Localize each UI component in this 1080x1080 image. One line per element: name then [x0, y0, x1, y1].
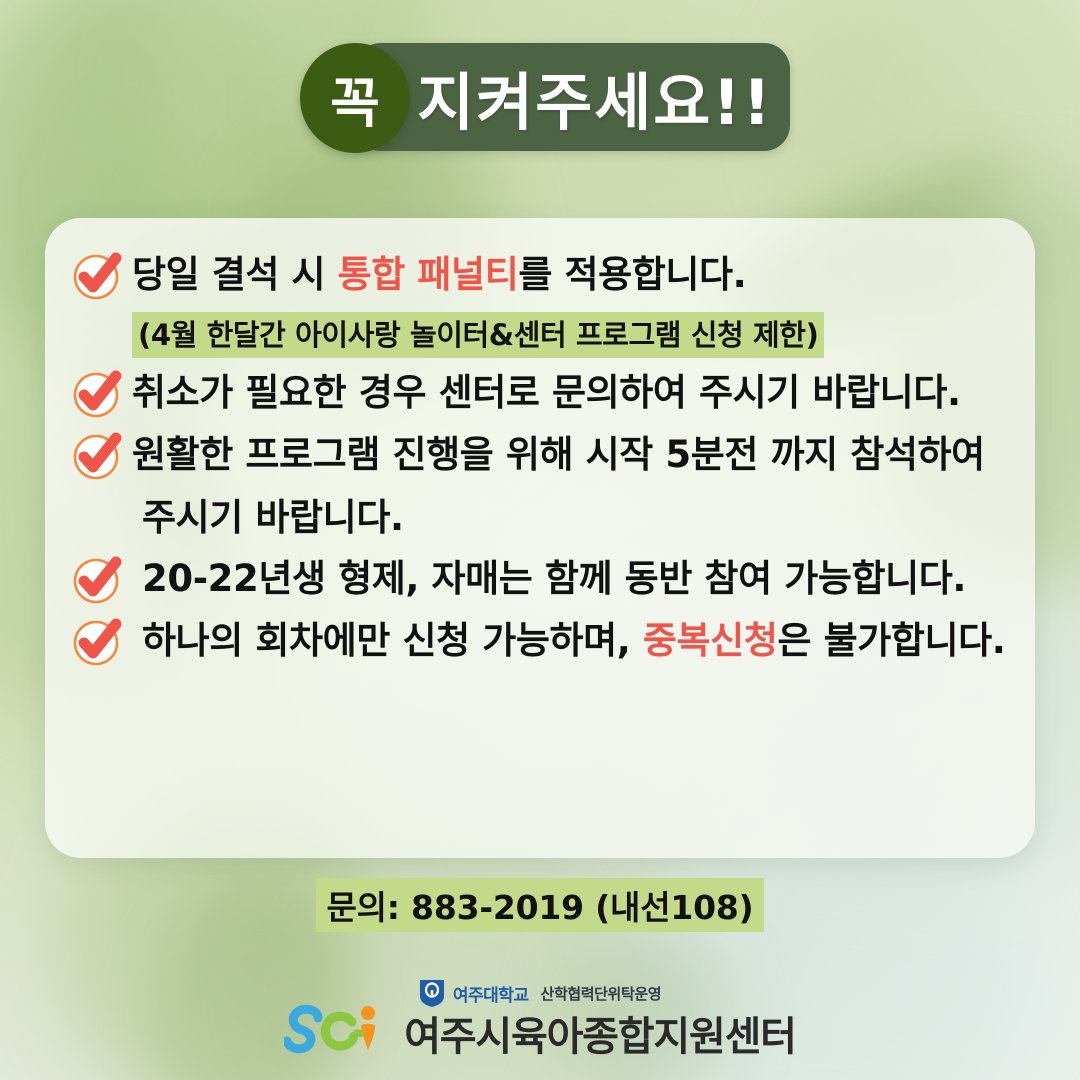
check-circle-icon — [70, 427, 126, 483]
check-circle-icon — [70, 551, 126, 607]
rule-item: 당일 결석 시 통합 패널티를 적용합니다. — [70, 245, 1030, 307]
sc-logo-icon — [284, 1004, 392, 1062]
rule-segment-highlight: 중복신청 — [643, 619, 778, 662]
rule-segment: 은 불가합니다. — [777, 619, 1005, 662]
rule-text: 취소가 필요한 경우 센터로 문의하여 주시기 바랍니다. — [132, 363, 1030, 423]
rules-list: 당일 결석 시 통합 패널티를 적용합니다. (4월 한달간 아이사랑 놀이터&… — [70, 245, 1030, 673]
header-title: 지켜주세요!! — [430, 43, 760, 151]
rule-segment: 당일 결석 시 — [132, 253, 338, 296]
rule-segment: 하나의 회차에만 신청 가능하며, — [142, 619, 643, 662]
header-banner: 지켜주세요!! 꼭 — [300, 43, 790, 151]
rule-item: 취소가 필요한 경우 센터로 문의하여 주시기 바랍니다. — [70, 363, 1030, 425]
check-slot — [70, 425, 132, 487]
check-circle-icon — [70, 247, 126, 303]
check-slot — [70, 245, 132, 307]
check-circle-icon — [70, 365, 126, 421]
subnote-row: (4월 한달간 아이사랑 놀이터&센터 프로그램 신청 제한) — [70, 307, 1030, 363]
rule-continuation-row: 주시기 바랍니다. — [70, 487, 1030, 549]
university-name: 여주대학교 — [453, 981, 529, 1006]
header-badge: 꼭 — [300, 43, 410, 153]
center-brand-row: 여주시육아종합지원센터 — [0, 1004, 1080, 1062]
center-name: 여주시육아종합지원센터 — [404, 1004, 796, 1062]
contact-phone: 문의: 883-2019 (내선108) — [316, 878, 763, 932]
rule-continuation-text: 주시기 바랍니다. — [132, 488, 404, 548]
rule-item: 20-22년생 형제, 자매는 함께 동반 참여 가능합니다. — [70, 549, 1030, 611]
rule-text: 원활한 프로그램 진행을 위해 시작 5분전 까지 참석하여 — [132, 425, 1030, 485]
rule-item: 하나의 회차에만 신청 가능하며, 중복신청은 불가합니다. — [70, 611, 1030, 673]
rule-text: 당일 결석 시 통합 패널티를 적용합니다. — [132, 245, 1030, 305]
rule-text: 20-22년생 형제, 자매는 함께 동반 참여 가능합니다. — [132, 549, 1030, 609]
university-subtitle: 산학협력단위탁운영 — [541, 983, 662, 1004]
contact-section: 문의: 883-2019 (내선108) — [0, 878, 1080, 932]
check-circle-icon — [70, 613, 126, 669]
subnote-highlight: (4월 한달간 아이사랑 놀이터&센터 프로그램 신청 제한) — [132, 312, 824, 358]
rule-text: 하나의 회차에만 신청 가능하며, 중복신청은 불가합니다. — [132, 611, 1030, 671]
footer: 여주대학교 산학협력단위탁운영 여주시육아종합지원센터 — [0, 968, 1080, 1080]
check-slot — [70, 363, 132, 425]
check-slot — [70, 549, 132, 611]
rule-segment: 를 적용합니다. — [518, 253, 746, 296]
rule-segment-highlight: 통합 패널티 — [338, 253, 519, 296]
check-slot — [70, 611, 132, 673]
rule-item: 원활한 프로그램 진행을 위해 시작 5분전 까지 참석하여 — [70, 425, 1030, 487]
